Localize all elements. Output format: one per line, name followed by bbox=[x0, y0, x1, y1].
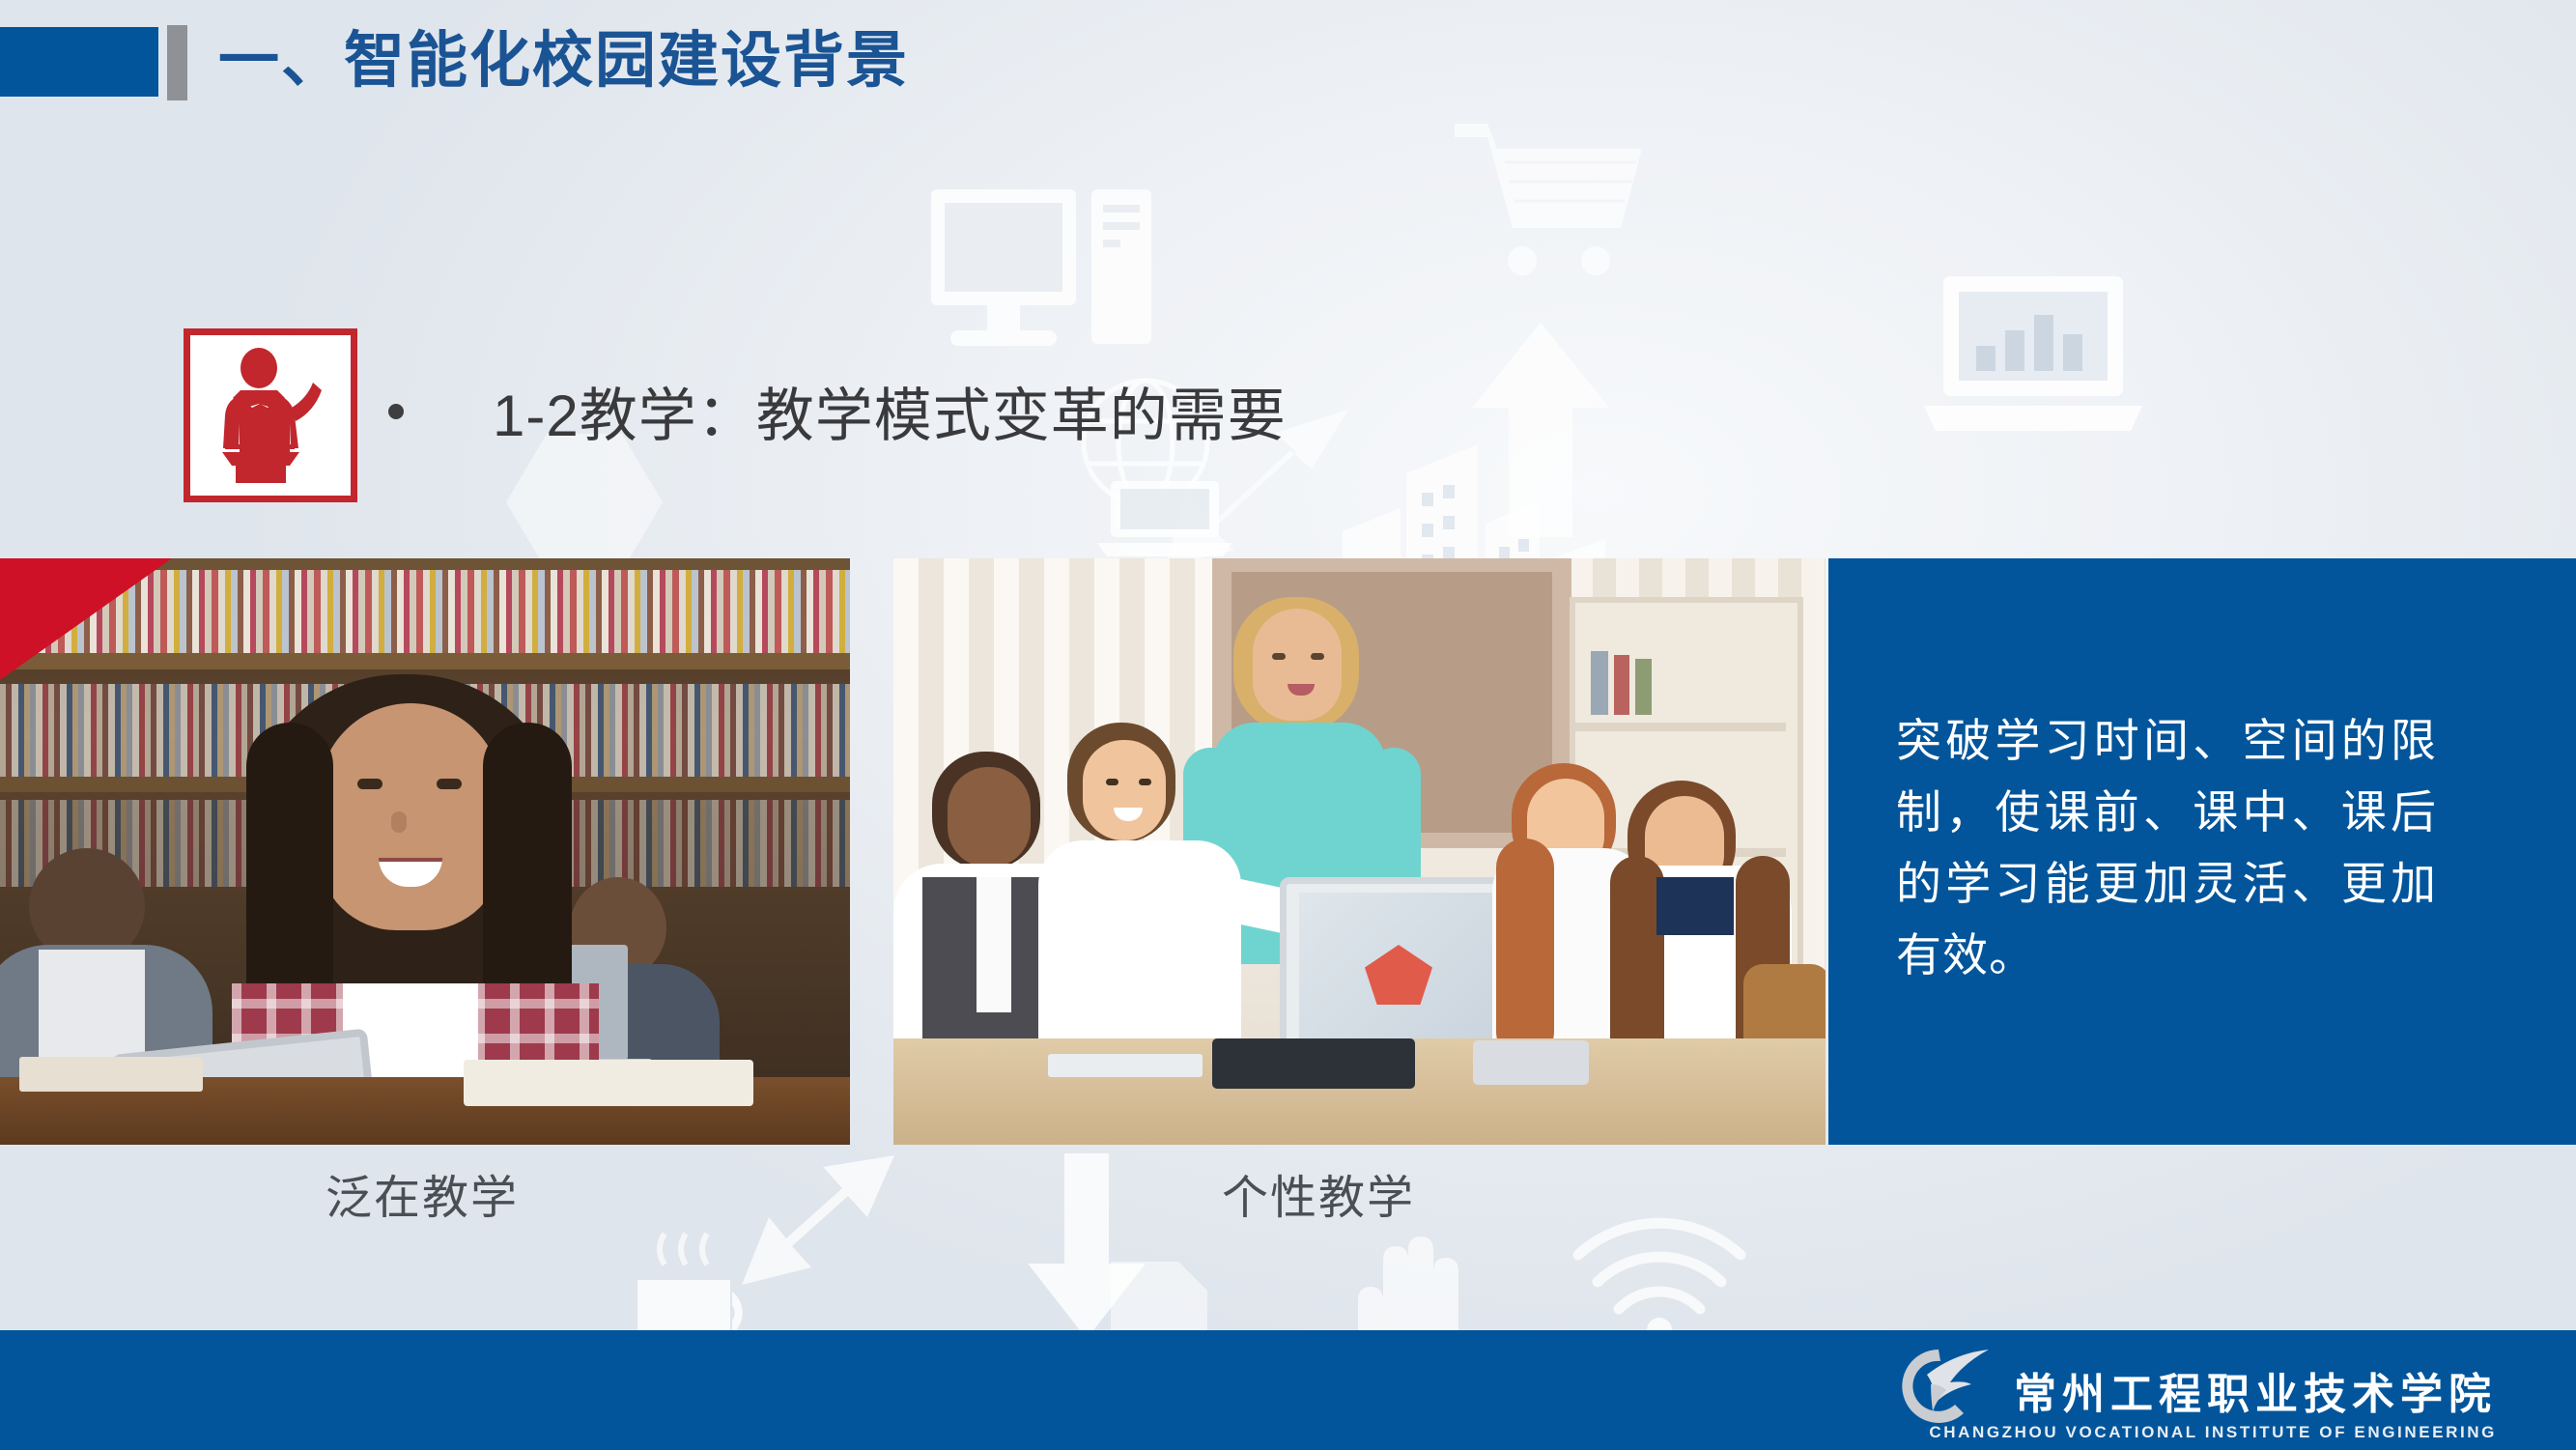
institution-logo: 常州工程职业技术学院 bbox=[1888, 1346, 2497, 1434]
page-title: 一、智能化校园建设背景 bbox=[218, 15, 909, 106]
highlight-text-panel: 突破学习时间、空间的限制，使课前、课中、课后的学习能更加灵活、更加有效。 bbox=[1828, 558, 2576, 1145]
header-accent-square bbox=[0, 27, 158, 97]
classroom-teacher-students-computer-photo bbox=[893, 558, 1826, 1145]
header-divider-bar bbox=[167, 25, 187, 100]
down-arrow-icon bbox=[1024, 1150, 1149, 1343]
presenter-podium-icon bbox=[184, 328, 357, 502]
institution-name-cn: 常州工程职业技术学院 bbox=[2014, 1359, 2497, 1421]
diagonal-arrow-icon bbox=[734, 1150, 898, 1294]
slide-footer: 常州工程职业技术学院 CHANGZHOU VOCATIONAL INSTITUT… bbox=[0, 1330, 2576, 1450]
slide-header: 一、智能化校园建设背景 bbox=[0, 0, 2576, 135]
slide-root: 一、智能化校园建设背景 1-2教学：教学模式变革的需要 bbox=[0, 0, 2576, 1450]
photo-strip: 突破学习时间、空间的限制，使课前、课中、课后的学习能更加灵活、更加有效。 bbox=[0, 558, 2576, 1145]
red-corner-accent bbox=[0, 558, 172, 680]
institution-name-en: CHANGZHOU VOCATIONAL INSTITUTE OF ENGINE… bbox=[1929, 1423, 2497, 1442]
shopping-cart-icon bbox=[1449, 116, 1652, 299]
desktop-computer-icon bbox=[927, 184, 1159, 377]
up-arrow-icon bbox=[1468, 319, 1613, 541]
bullet-marker bbox=[388, 404, 404, 419]
wifi-signal-icon bbox=[1565, 1174, 1758, 1348]
caption-left: 泛在教学 bbox=[326, 1159, 519, 1227]
university-emblem-icon bbox=[1888, 1346, 1995, 1434]
caption-middle: 个性教学 bbox=[1222, 1159, 1415, 1227]
library-student-tablet-photo bbox=[0, 558, 850, 1145]
highlight-text: 突破学习时间、空间的限制，使课前、课中、课后的学习能更加灵活、更加有效。 bbox=[1896, 705, 2437, 991]
bullet-text: 1-2教学：教学模式变革的需要 bbox=[493, 369, 1287, 453]
laptop-chart-icon bbox=[1922, 270, 2144, 440]
